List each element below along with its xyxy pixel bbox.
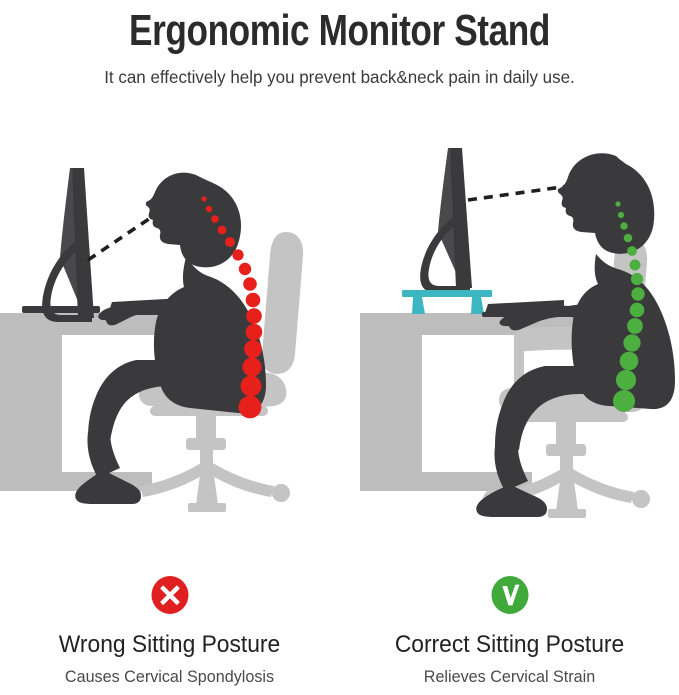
header: Ergonomic Monitor Stand It can effective…	[0, 0, 679, 92]
page-subtitle: It can effectively help you prevent back…	[10, 62, 669, 92]
page-title: Ergonomic Monitor Stand	[68, 4, 611, 58]
monitor	[22, 168, 100, 322]
monitor	[420, 148, 472, 293]
wrong-posture-title: Wrong Sitting Posture	[8, 628, 330, 662]
wrong-posture-subtitle: Causes Cervical Spondylosis	[8, 664, 330, 690]
person-silhouette	[75, 173, 266, 504]
red-x-circle-icon	[150, 575, 190, 615]
illustration-panels	[0, 120, 679, 540]
footer-wrong-column: Wrong Sitting Posture Causes Cervical Sp…	[0, 568, 339, 690]
monitor-stand	[402, 290, 492, 314]
green-check-circle-icon	[490, 575, 530, 615]
correct-posture-subtitle: Relieves Cervical Strain	[348, 664, 670, 690]
wrong-posture-illustration	[0, 120, 339, 520]
footer: Wrong Sitting Posture Causes Cervical Sp…	[0, 568, 679, 695]
correct-posture-title: Correct Sitting Posture	[348, 628, 670, 662]
footer-correct-column: Correct Sitting Posture Relieves Cervica…	[340, 568, 679, 690]
infographic-page: Ergonomic Monitor Stand It can effective…	[0, 0, 679, 695]
person-silhouette	[476, 153, 675, 517]
correct-posture-illustration	[340, 120, 679, 520]
